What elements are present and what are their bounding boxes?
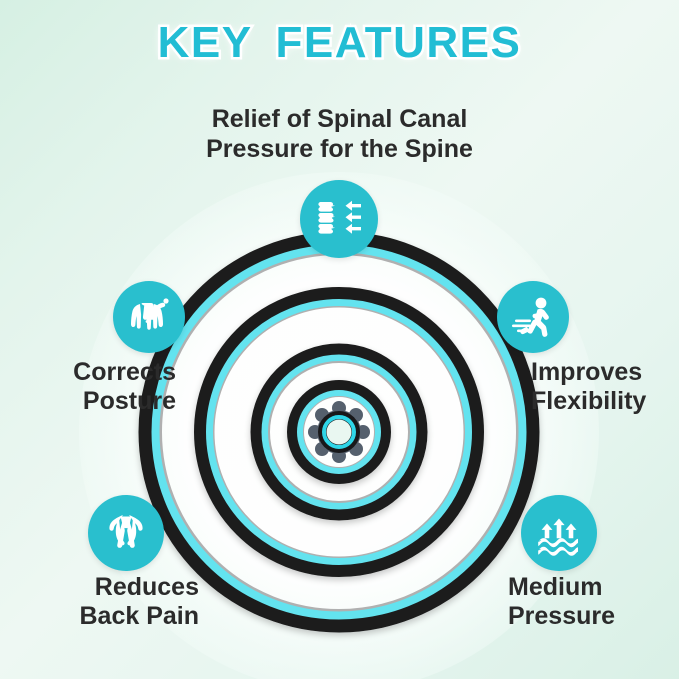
feature-label-line-2: Pressure [508,602,615,631]
feature-label-line-1: Reduces [95,573,199,601]
feature-label-line-2: Back Pain [0,602,199,631]
feature-label-improves-flexibility: Improves Flexibility [531,358,646,417]
feature-label-reduces-back-pain: Reduces Back Pain [0,573,199,632]
feature-icon-spinal-canal-relief[interactable] [300,180,378,258]
feature-label-medium-pressure: Medium Pressure [508,573,615,632]
feature-icon-improves-flexibility[interactable] [497,281,569,353]
subtitle-line-2: Pressure for the Spine [0,134,679,164]
feature-label-line-1: Medium [508,573,602,601]
back-muscles-icon [100,507,152,559]
spine-arrows-icon [313,193,365,245]
page-title: KEY FEATURES [0,18,679,68]
feature-label-line-1: Improves [531,358,642,386]
feature-icon-corrects-posture[interactable] [113,281,185,353]
feature-icon-medium-pressure[interactable] [521,495,597,571]
posture-back-icon [124,292,174,342]
feature-icon-reduces-back-pain[interactable] [88,495,164,571]
key-features-infographic: KEY FEATURES Relief of Spinal Canal Pres… [0,0,679,679]
arrows-waves-icon [533,507,585,559]
subtitle-line-1: Relief of Spinal Canal [212,105,468,133]
gear-cog-hub [308,401,370,463]
subtitle: Relief of Spinal Canal Pressure for the … [0,104,679,164]
feature-label-corrects-posture: Corrects Posture [0,358,176,417]
feature-label-line-1: Corrects [73,358,176,386]
running-person-icon [508,292,558,342]
feature-label-line-2: Flexibility [531,387,646,416]
feature-label-line-2: Posture [0,387,176,416]
